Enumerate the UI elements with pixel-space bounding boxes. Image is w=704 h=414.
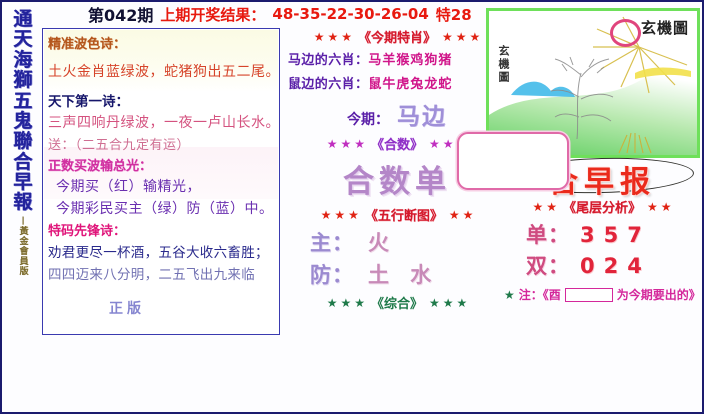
star-icon: ★ <box>456 31 467 43</box>
star-icon: ★ <box>532 201 543 213</box>
star-icon: ★ <box>442 31 453 43</box>
star-icon: ★ <box>314 31 325 43</box>
star-icon: ★ <box>647 201 658 213</box>
star-icon: ★ <box>504 288 515 302</box>
masthead-char-5: 鬼 <box>13 112 32 131</box>
newspaper-page: 通 天 海 獅 五 鬼 聯 合 早 報 —黃金會員版 第042期 上期开奖结果：… <box>0 0 704 414</box>
poem-line-1: 土火金肖蓝绿波，蛇猪狗出五二尾。 <box>48 61 274 81</box>
current-pick-key: 今期： <box>347 109 389 129</box>
masthead-char-2: 海 <box>13 51 32 70</box>
star-icon: ★ <box>546 201 557 213</box>
footnote-suffix: 为今期要出的》 <box>617 286 701 303</box>
star-icon: ★ <box>463 209 474 221</box>
star-icon: ★ <box>327 31 338 43</box>
issue-number: 第042期 <box>88 2 153 26</box>
odd-row: 单： 357 <box>502 219 702 249</box>
footnote-prefix: 注：《酉 <box>519 286 561 303</box>
poem-title-3: 正数买波输总光： <box>48 155 274 174</box>
poem-title-2: 天下第一诗： <box>48 90 274 110</box>
star-icon: ★ <box>429 297 440 309</box>
section-label-wuxing: 《五行断图》 <box>365 205 443 224</box>
masthead-char-7: 合 <box>13 153 32 172</box>
blank-pink-box <box>457 132 569 190</box>
odd-value: 357 <box>580 223 651 247</box>
zodiac-row-ma: 马边的六肖：马羊猴鸡狗猪 <box>284 49 510 68</box>
special-number: 特28 <box>436 4 472 25</box>
masthead-char-8: 早 <box>13 173 32 192</box>
poem-line-3: 送：（二五合九定有运） <box>48 134 274 153</box>
star-icon: ★ <box>354 297 365 309</box>
star-icon: ★ <box>341 31 352 43</box>
star-icon: ★ <box>457 297 468 309</box>
masthead-char-4: 五 <box>13 92 32 111</box>
star-icon: ★ <box>321 209 332 221</box>
masthead-char-1: 天 <box>13 30 32 49</box>
section-header-texiao: ★ ★ ★ 《今期特肖》 ★ ★ ★ <box>284 27 510 46</box>
current-pick-value: 马边 <box>397 97 447 131</box>
section-header-zonghe: ★ ★ ★ 《综合》 ★ ★ ★ <box>284 293 510 312</box>
star-icon: ★ <box>327 297 338 309</box>
star-icon: ★ <box>354 138 365 150</box>
poem-title-1: 精准波色诗： <box>48 33 274 52</box>
poem-line-6: 劝君更尽一杯酒，五谷大收六畜胜； <box>48 241 274 261</box>
section-header-wuxing: ★ ★ ★ 《五行断图》 ★ ★ <box>284 205 510 224</box>
illustration-stamp: 玄機圖 <box>641 17 689 38</box>
section-label-texiao: 《今期特肖》 <box>358 27 436 46</box>
zodiac-row-shu: 鼠边的六肖：鼠牛虎兔龙蛇 <box>284 73 510 92</box>
masthead-char-9: 報 <box>13 193 32 212</box>
current-pick: 今期： 马边 <box>284 97 510 131</box>
zodiac-row-ma-value: 马羊猴鸡狗猪 <box>368 53 452 68</box>
last-result-numbers: 48-35-22-30-26-04 <box>272 5 428 23</box>
zodiac-row-ma-key: 马边的六肖： <box>288 53 368 68</box>
stamp-circle-icon <box>610 19 641 47</box>
star-icon: ★ <box>470 31 481 43</box>
masthead: 通 天 海 獅 五 鬼 聯 合 早 報 —黃金會員版 <box>6 6 40 336</box>
odd-key: 单： <box>526 219 570 249</box>
zodiac-row-shu-key: 鼠边的六肖： <box>288 77 368 92</box>
section-label-zonghe: 《综合》 <box>371 293 423 312</box>
star-icon: ★ <box>449 209 460 221</box>
masthead-char-6: 聯 <box>13 132 32 151</box>
wuxing-guard-key: 防： <box>310 259 354 289</box>
wuxing-guard-value: 土 水 <box>368 259 438 289</box>
illustration-label: 玄機圖 <box>495 45 511 84</box>
poem-watermark: 正版 <box>109 298 145 318</box>
star-icon: ★ <box>429 138 440 150</box>
star-icon: ★ <box>327 138 338 150</box>
wuxing-guard-row: 防： 土 水 <box>284 259 510 289</box>
star-icon: ★ <box>334 209 345 221</box>
header-bar: 第042期 上期开奖结果： 48-35-22-30-26-04 特28 <box>88 3 472 25</box>
poem-line-2: 三声四响丹绿波，一夜一卢山长水。 <box>48 112 274 132</box>
wuxing-main-value: 火 <box>368 227 396 257</box>
star-icon: ★ <box>443 297 454 309</box>
masthead-subtitle: —黃金會員版 <box>17 216 30 276</box>
wuxing-main-row: 主： 火 <box>284 227 510 257</box>
star-icon: ★ <box>340 138 351 150</box>
star-icon: ★ <box>348 209 359 221</box>
zodiac-row-shu-value: 鼠牛虎兔龙蛇 <box>368 77 452 92</box>
even-key: 双： <box>526 250 570 280</box>
star-icon: ★ <box>340 297 351 309</box>
masthead-char-3: 獅 <box>13 71 32 90</box>
poem-panel: 精准波色诗： 土火金肖蓝绿波，蛇猪狗出五二尾。 天下第一诗： 三声四响丹绿波，一… <box>42 28 280 335</box>
poem-line-5: 今期彩民买主（绿）防（蓝）中。 <box>48 198 274 218</box>
wuxing-main-key: 主： <box>310 227 354 257</box>
poem-line-7: 四四迈来八分明，二五飞出九来临 <box>48 263 274 283</box>
footnote: ★ 注：《酉 为今期要出的》 <box>502 286 702 303</box>
poem-line-4: 今期买（红）输精光， <box>48 176 274 196</box>
masthead-char-0: 通 <box>13 10 32 29</box>
even-row: 双： 024 <box>502 250 702 280</box>
poem-title-4: 特码先锋诗： <box>48 220 274 239</box>
star-icon: ★ <box>661 201 672 213</box>
section-label-heshu: 《合数》 <box>371 134 423 153</box>
even-value: 024 <box>580 254 651 278</box>
star-icon: ★ <box>443 138 454 150</box>
last-result-label: 上期开奖结果： <box>160 4 265 25</box>
footnote-blank-box <box>565 288 613 302</box>
